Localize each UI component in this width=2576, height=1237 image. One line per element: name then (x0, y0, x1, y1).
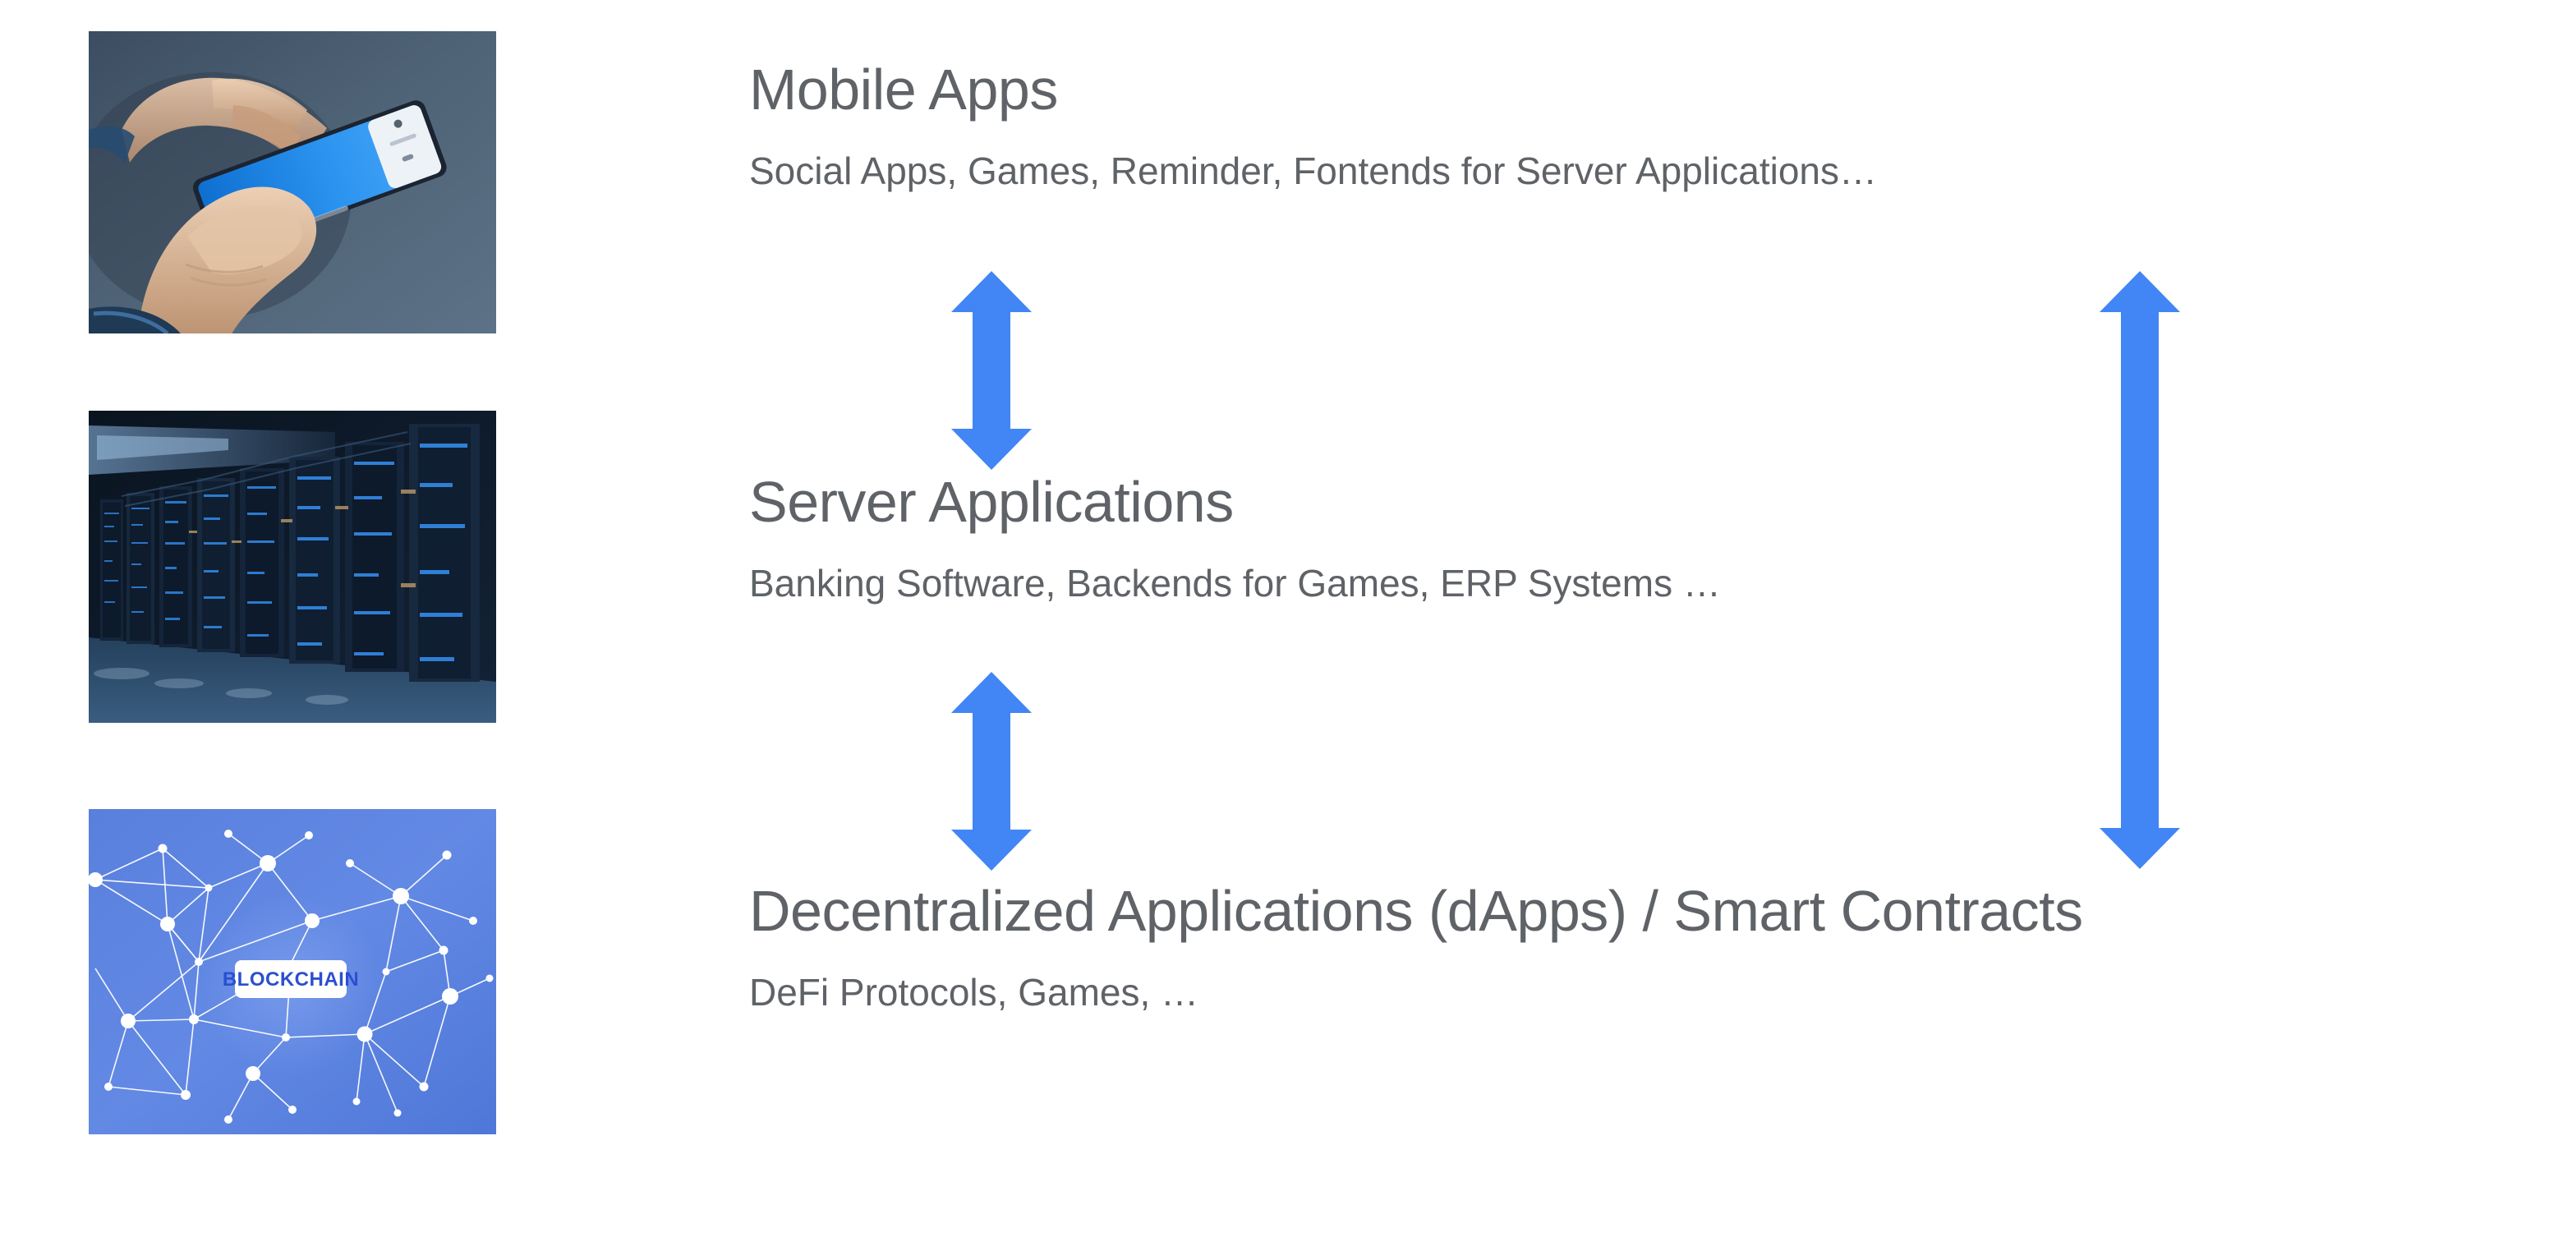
blockchain-label-badge: BLOCKCHAIN (223, 960, 359, 998)
data-center-illustration (89, 411, 496, 723)
mobile-phone-photo (89, 31, 496, 333)
subtext-server-applications: Banking Software, Backends for Games, ER… (749, 561, 1721, 606)
data-center-photo (89, 411, 496, 723)
section-decentralized-applications: Decentralized Applications (dApps) / Sma… (749, 877, 2083, 1015)
arrow-server-to-dapps (946, 672, 1037, 871)
heading-server-applications: Server Applications (749, 468, 1721, 536)
subtext-decentralized-applications: DeFi Protocols, Games, … (749, 970, 2083, 1015)
arrow-mobile-to-server (946, 271, 1037, 470)
blockchain-label-text: BLOCKCHAIN (223, 968, 359, 991)
blockchain-network-illustration: BLOCKCHAIN (89, 809, 496, 1134)
subtext-mobile-apps: Social Apps, Games, Reminder, Fontends f… (749, 149, 1877, 194)
double-arrow-icon (2095, 271, 2185, 869)
section-mobile-apps: Mobile Apps Social Apps, Games, Reminder… (749, 56, 1877, 194)
section-server-applications: Server Applications Banking Software, Ba… (749, 468, 1721, 606)
heading-decentralized-applications: Decentralized Applications (dApps) / Sma… (749, 877, 2083, 945)
blockchain-network-graphic: BLOCKCHAIN (89, 809, 496, 1134)
slide-canvas: BLOCKCHAIN Mobile Apps Social Apps, Game… (0, 0, 2576, 1237)
mobile-phone-illustration (89, 31, 496, 333)
double-arrow-icon (946, 271, 1037, 470)
double-arrow-icon (946, 672, 1037, 871)
heading-mobile-apps: Mobile Apps (749, 56, 1877, 124)
arrow-mobile-to-dapps (2095, 271, 2185, 869)
